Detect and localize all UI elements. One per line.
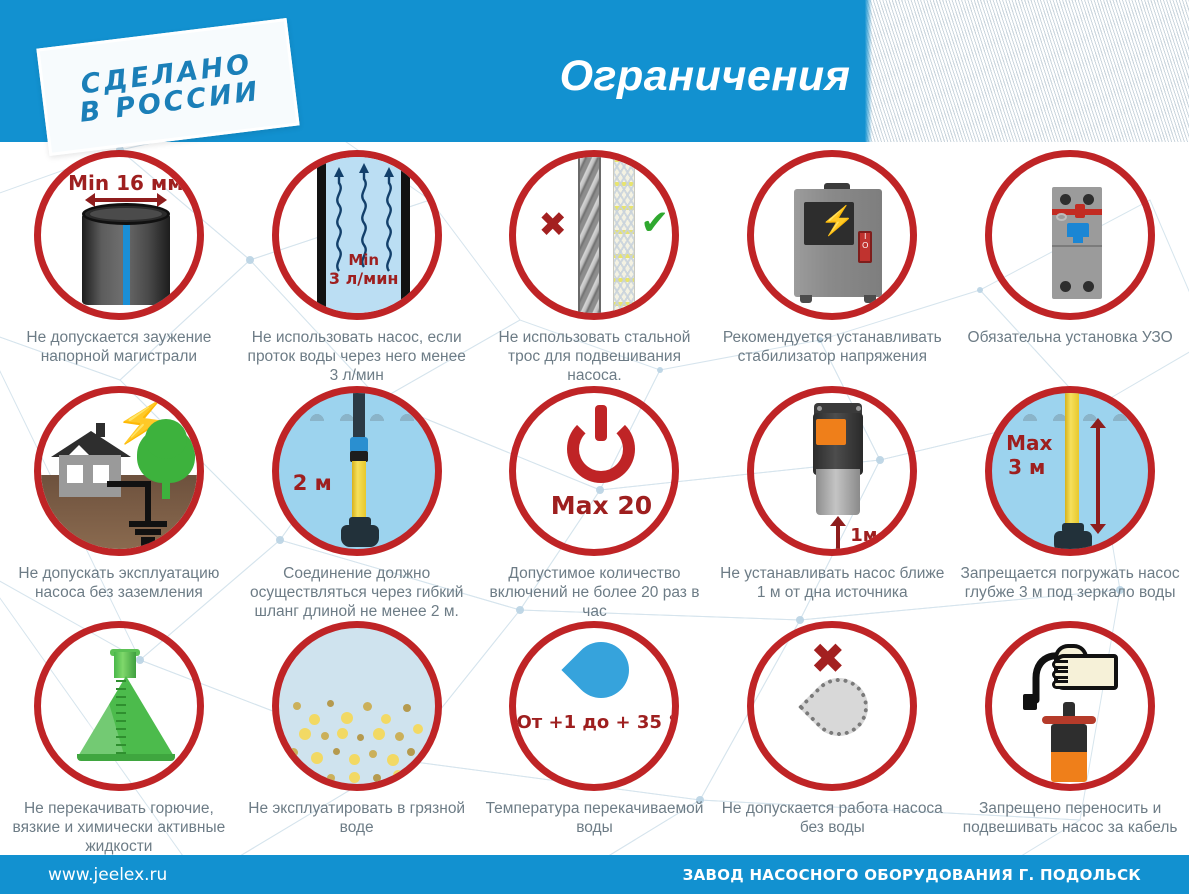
pump-body [341, 525, 379, 547]
header-stripe-decoration [860, 0, 1189, 142]
house-window [67, 465, 83, 483]
switch-on-label: I [864, 232, 866, 241]
rcd-lever [1075, 204, 1085, 218]
restriction-caption: Запрещено переносить и подвешивать насос… [958, 800, 1183, 838]
restriction-caption: Не эксплуатировать в грязной воде [244, 800, 469, 838]
restriction-caption: Не использовать насос, если проток воды … [244, 329, 469, 386]
restriction-card: Обязательна установка УЗО [951, 150, 1189, 386]
check-icon: ✔ [640, 203, 669, 243]
pump-float-ring [1042, 716, 1096, 724]
pump-orange-label [816, 419, 846, 445]
restriction-caption: Не допускается работа насоса без воды [720, 800, 945, 838]
restriction-card: ✖ Не допускается работа насоса без воды [713, 621, 951, 857]
tree-crown-top [145, 419, 187, 459]
pump-orange-base [1051, 752, 1087, 782]
clearance-badge: 1м [850, 525, 877, 546]
ground-rod-tip [141, 537, 155, 547]
hose-upper-black [353, 386, 365, 445]
switch-off-label: O [862, 241, 868, 250]
flask-graduation-marks [116, 680, 126, 756]
restriction-caption: Запрещается погружать насос глубже 3 м п… [958, 565, 1183, 603]
cable-plug [1023, 694, 1037, 710]
flow-badge-min: Min [279, 251, 442, 269]
cross-icon: ✖ [538, 205, 567, 245]
restriction-caption: Обязательна установка УЗО [958, 329, 1183, 348]
footer-company-name: ЗАВОД НАСОСНОГО ОБОРУДОВАНИЯ Г. ПОДОЛЬСК [683, 866, 1141, 884]
pipe-bore-shape [90, 208, 162, 220]
ground-wire-vertical [145, 481, 151, 525]
ground-rod-bar-1 [129, 521, 167, 527]
water-droplet-icon: От +1 до + 35 °C [509, 621, 679, 791]
nylon-rope-shape [613, 150, 635, 320]
depth-arrow-icon [1096, 427, 1100, 525]
restriction-caption: Не перекачивать горючие, вязкие и химиче… [6, 800, 231, 857]
footer-website-url[interactable]: www.jeelex.ru [48, 865, 167, 885]
restriction-card: 1м Не устанавливать насос ближе 1 м от д… [713, 386, 951, 622]
power-symbol-bar [595, 405, 607, 441]
pipe-wall-right [401, 151, 410, 320]
restriction-card: Не эксплуатировать в грязной воде [238, 621, 476, 857]
flexible-hose-yellow [352, 461, 366, 523]
restriction-caption: Не допускается заужение напорной магистр… [6, 329, 231, 367]
flow-badge-value: 3 л/мин [279, 269, 442, 288]
steel-cable-shape [578, 150, 601, 320]
temperature-badge: От +1 до + 35 °C [516, 712, 679, 733]
restriction-caption: Рекомендуется устанавливать стабилизатор… [720, 329, 945, 367]
dirty-water-icon [272, 621, 442, 791]
pipe-wall-left [317, 151, 326, 320]
house-gable-ornament [69, 445, 89, 455]
pipe-diameter-badge: Min 16 мм [41, 171, 204, 195]
rcd-breaker-icon [985, 150, 1155, 320]
restriction-caption: Не допускать эксплуатацию насоса без заз… [6, 565, 231, 603]
chemical-flask-icon [34, 621, 204, 791]
restriction-card: Max 20 Допустимое количество включений н… [476, 386, 714, 622]
restriction-card: ⚡ Не допускать эксплуатацию насоса без з… [0, 386, 238, 622]
restriction-card: Min 3 л/мин Не использовать насос, если … [238, 150, 476, 386]
max-depth-badge-label: Max [1006, 431, 1052, 455]
rcd-test-button-stem [1073, 235, 1083, 243]
tree-trunk [162, 477, 170, 499]
cross-icon: ✖ [810, 634, 845, 683]
steel-cable-vs-rope-icon: ✖ ✔ [509, 150, 679, 320]
restriction-card: Запрещено переносить и подвешивать насос… [951, 621, 1189, 857]
flask-neck [114, 652, 136, 678]
pipe-water-stripe [123, 217, 130, 305]
restriction-caption: Не использовать стальной трос для подвеш… [482, 329, 707, 386]
restriction-caption: Соединение должно осуществляться через г… [244, 565, 469, 622]
restriction-card: 2 м Соединение должно осуществляться чер… [238, 386, 476, 622]
stabilizer-power-switch: I O [858, 231, 872, 263]
stabilizer-foot [864, 295, 876, 303]
water-flow-pipe-icon: Min 3 л/мин [272, 150, 442, 320]
page-title: Ограничения [545, 52, 865, 101]
restriction-card: Max 3 м Запрещается погружать насос глуб… [951, 386, 1189, 622]
restriction-caption: Допустимое количество включений не более… [482, 565, 707, 622]
house-grounding-icon: ⚡ [34, 386, 204, 556]
pump-lower-housing [816, 469, 860, 515]
house-roof [51, 431, 131, 457]
restriction-card: Не перекачивать горючие, вязкие и химиче… [0, 621, 238, 857]
pump-bottom-clearance-icon: 1м [747, 386, 917, 556]
lightning-bolt-icon: ⚡ [820, 207, 855, 235]
hand-finger [1052, 680, 1068, 689]
dry-run-icon: ✖ [747, 621, 917, 791]
hand-finger [1052, 670, 1068, 679]
max-depth-badge-value: 3 м [1008, 455, 1045, 479]
ground-rod-bar-2 [135, 529, 161, 535]
droplet-shape [562, 631, 641, 710]
hand-carrying-pump-by-cable-icon [985, 621, 1155, 791]
clearance-arrow-icon [836, 525, 840, 551]
power-button-icon: Max 20 [509, 386, 679, 556]
restriction-caption: Не устанавливать насос ближе 1 м от дна … [720, 565, 945, 603]
hose-length-badge: 2 м [293, 471, 332, 495]
restriction-card: ✖ ✔ Не использовать стальной трос для по… [476, 150, 714, 386]
restriction-card: От +1 до + 35 °C Температура перекачивае… [476, 621, 714, 857]
rcd-seam-line [1052, 245, 1102, 247]
restrictions-grid: Min 16 мм Не допускается заужение напорн… [0, 150, 1189, 855]
pump-body [1054, 531, 1092, 553]
stabilizer-foot [800, 295, 812, 303]
flexible-hose-depth-icon: 2 м [272, 386, 442, 556]
max-submersion-depth-icon: Max 3 м [985, 386, 1155, 556]
pipe-diameter-icon: Min 16 мм [34, 150, 204, 320]
page-footer: www.jeelex.ru ЗАВОД НАСОСНОГО ОБОРУДОВАН… [0, 855, 1189, 894]
restriction-caption: Температура перекачиваемой воды [482, 800, 707, 838]
max-starts-badge: Max 20 [516, 491, 679, 520]
voltage-stabilizer-icon: ⚡ I O [747, 150, 917, 320]
width-arrow-icon [94, 198, 158, 202]
hand-finger [1052, 660, 1068, 669]
flask-base [77, 754, 175, 761]
restriction-card: ⚡ I O Рекомендуется устанавливать стабил… [713, 150, 951, 386]
restriction-card: Min 16 мм Не допускается заужение напорн… [0, 150, 238, 386]
flexible-hose-yellow [1065, 386, 1079, 529]
